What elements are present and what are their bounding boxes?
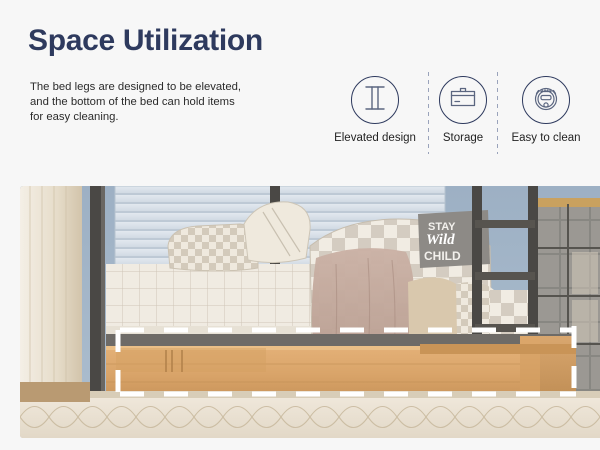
bedroom-scene-illustration: STAY Wild CHILD	[20, 186, 600, 438]
description-line-2: and the bottom of the bed can hold items	[30, 95, 310, 110]
pillow-text-wild: Wild	[426, 232, 455, 248]
feature-list: Elevated design	[322, 76, 592, 168]
product-feature-banner: Space Utilization The bed legs are desig…	[0, 0, 600, 450]
feature-label: Storage	[443, 132, 483, 144]
robot-vacuum-icon	[530, 83, 562, 118]
description-line-3: for easy cleaning.	[30, 110, 310, 125]
page-title: Space Utilization	[28, 24, 263, 58]
pillow-text-child: CHILD	[424, 249, 461, 263]
header-section: Space Utilization The bed legs are desig…	[0, 0, 600, 186]
bed-leg-icon	[361, 83, 389, 118]
feature-item-elevated-design[interactable]: Elevated design	[322, 76, 428, 144]
feature-icon-circle	[439, 76, 487, 124]
feature-item-easy-to-clean[interactable]: Easy to clean	[498, 76, 594, 144]
feature-item-storage[interactable]: Storage	[429, 76, 497, 144]
box-icon	[448, 85, 478, 116]
description-text: The bed legs are designed to be elevated…	[30, 80, 310, 125]
description-line-1: The bed legs are designed to be elevated…	[30, 80, 310, 95]
feature-icon-circle	[351, 76, 399, 124]
bedroom-photo: STAY Wild CHILD	[20, 186, 600, 438]
feature-label: Elevated design	[334, 132, 416, 144]
feature-label: Easy to clean	[511, 132, 580, 144]
feature-icon-circle	[522, 76, 570, 124]
